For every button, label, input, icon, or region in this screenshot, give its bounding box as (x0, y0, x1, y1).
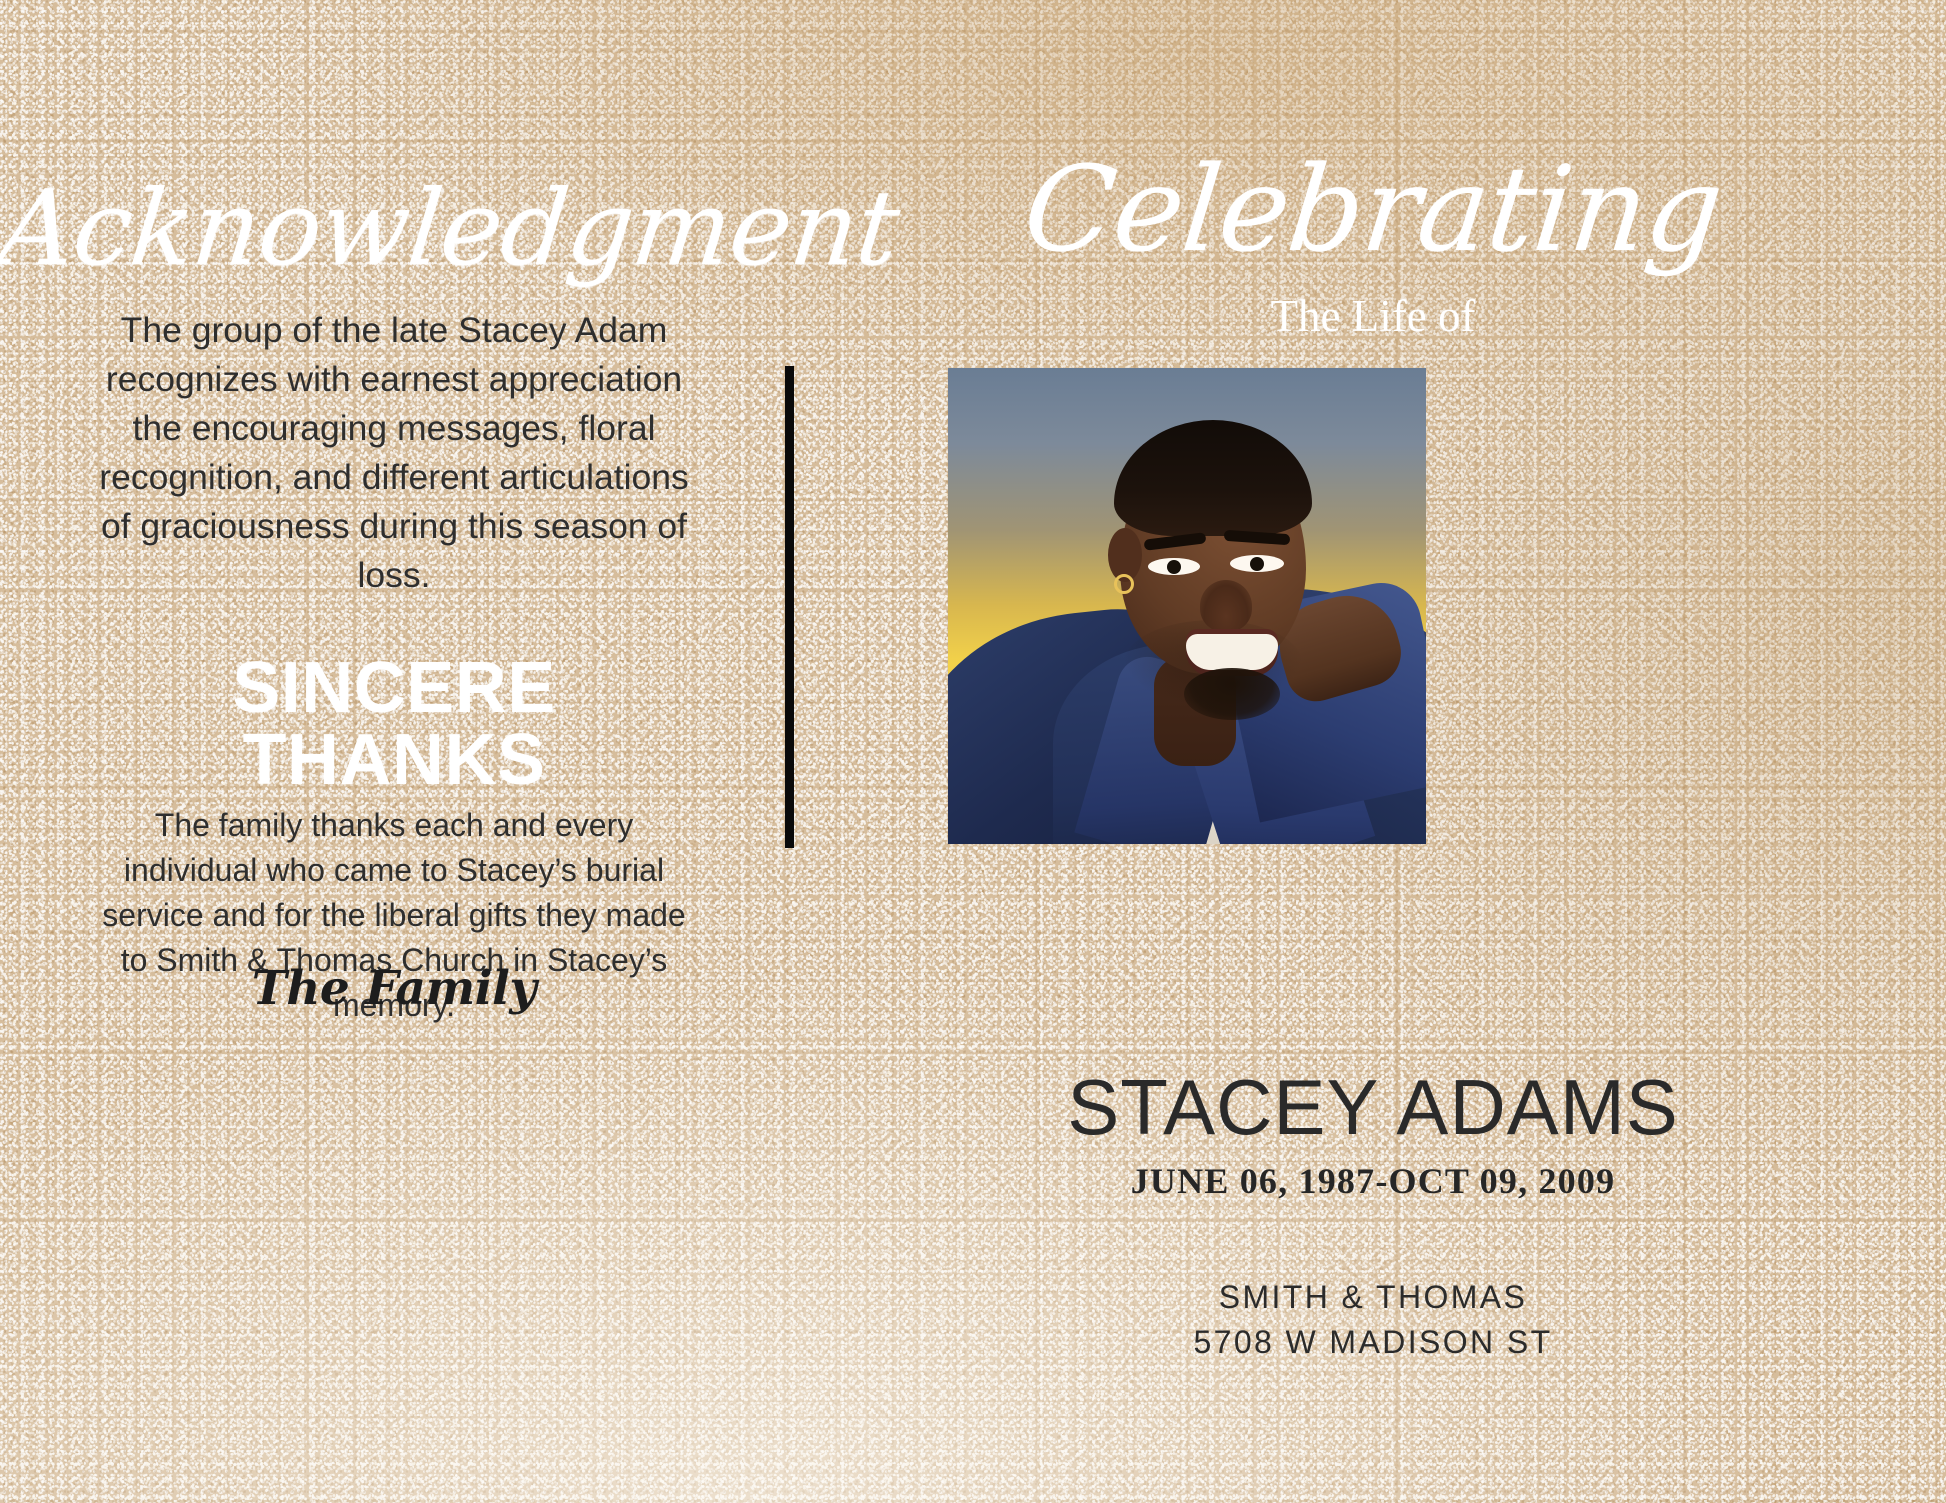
acknowledgment-panel: Acknowledgment The group of the late Sta… (0, 0, 788, 1503)
deceased-dates: JUNE 06, 1987-OCT 09, 2009 (800, 1160, 1946, 1202)
portrait-photo (948, 368, 1426, 844)
portrait-mouth (1186, 634, 1278, 670)
sincere-thanks-line-1: SINCERE (0, 652, 788, 724)
sincere-thanks-heading: SINCERE THANKS (0, 652, 788, 796)
portrait-hair (1114, 420, 1312, 536)
portrait-eye-right (1230, 555, 1284, 572)
portrait-pupil-left (1167, 560, 1181, 574)
venue-street: 5708 W MADISON ST (800, 1320, 1946, 1365)
deceased-name: STACEY ADAMS (800, 1065, 1946, 1149)
celebration-panel: Celebrating The Life of (800, 0, 1946, 1503)
portrait-nose (1200, 580, 1252, 632)
portrait-pupil-right (1250, 557, 1264, 571)
acknowledgment-body-text: The group of the late Stacey Adam recogn… (86, 306, 702, 600)
portrait-eye-left (1148, 558, 1200, 575)
acknowledgment-title: Acknowledgment (0, 176, 793, 280)
venue-name: SMITH & THOMAS (800, 1275, 1946, 1320)
portrait-photo-backdrop (948, 368, 1426, 844)
sincere-thanks-line-2: THANKS (0, 724, 788, 796)
life-of-subtitle: The Life of (800, 290, 1946, 342)
family-signature: The Family (0, 961, 788, 1016)
portrait-earring (1114, 574, 1134, 594)
funeral-program-page: Acknowledgment The group of the late Sta… (0, 0, 1946, 1503)
portrait-goatee (1184, 668, 1280, 720)
vertical-divider (785, 366, 794, 848)
venue-address: SMITH & THOMAS 5708 W MADISON ST (800, 1275, 1946, 1365)
celebrating-title: Celebrating (794, 150, 1946, 268)
